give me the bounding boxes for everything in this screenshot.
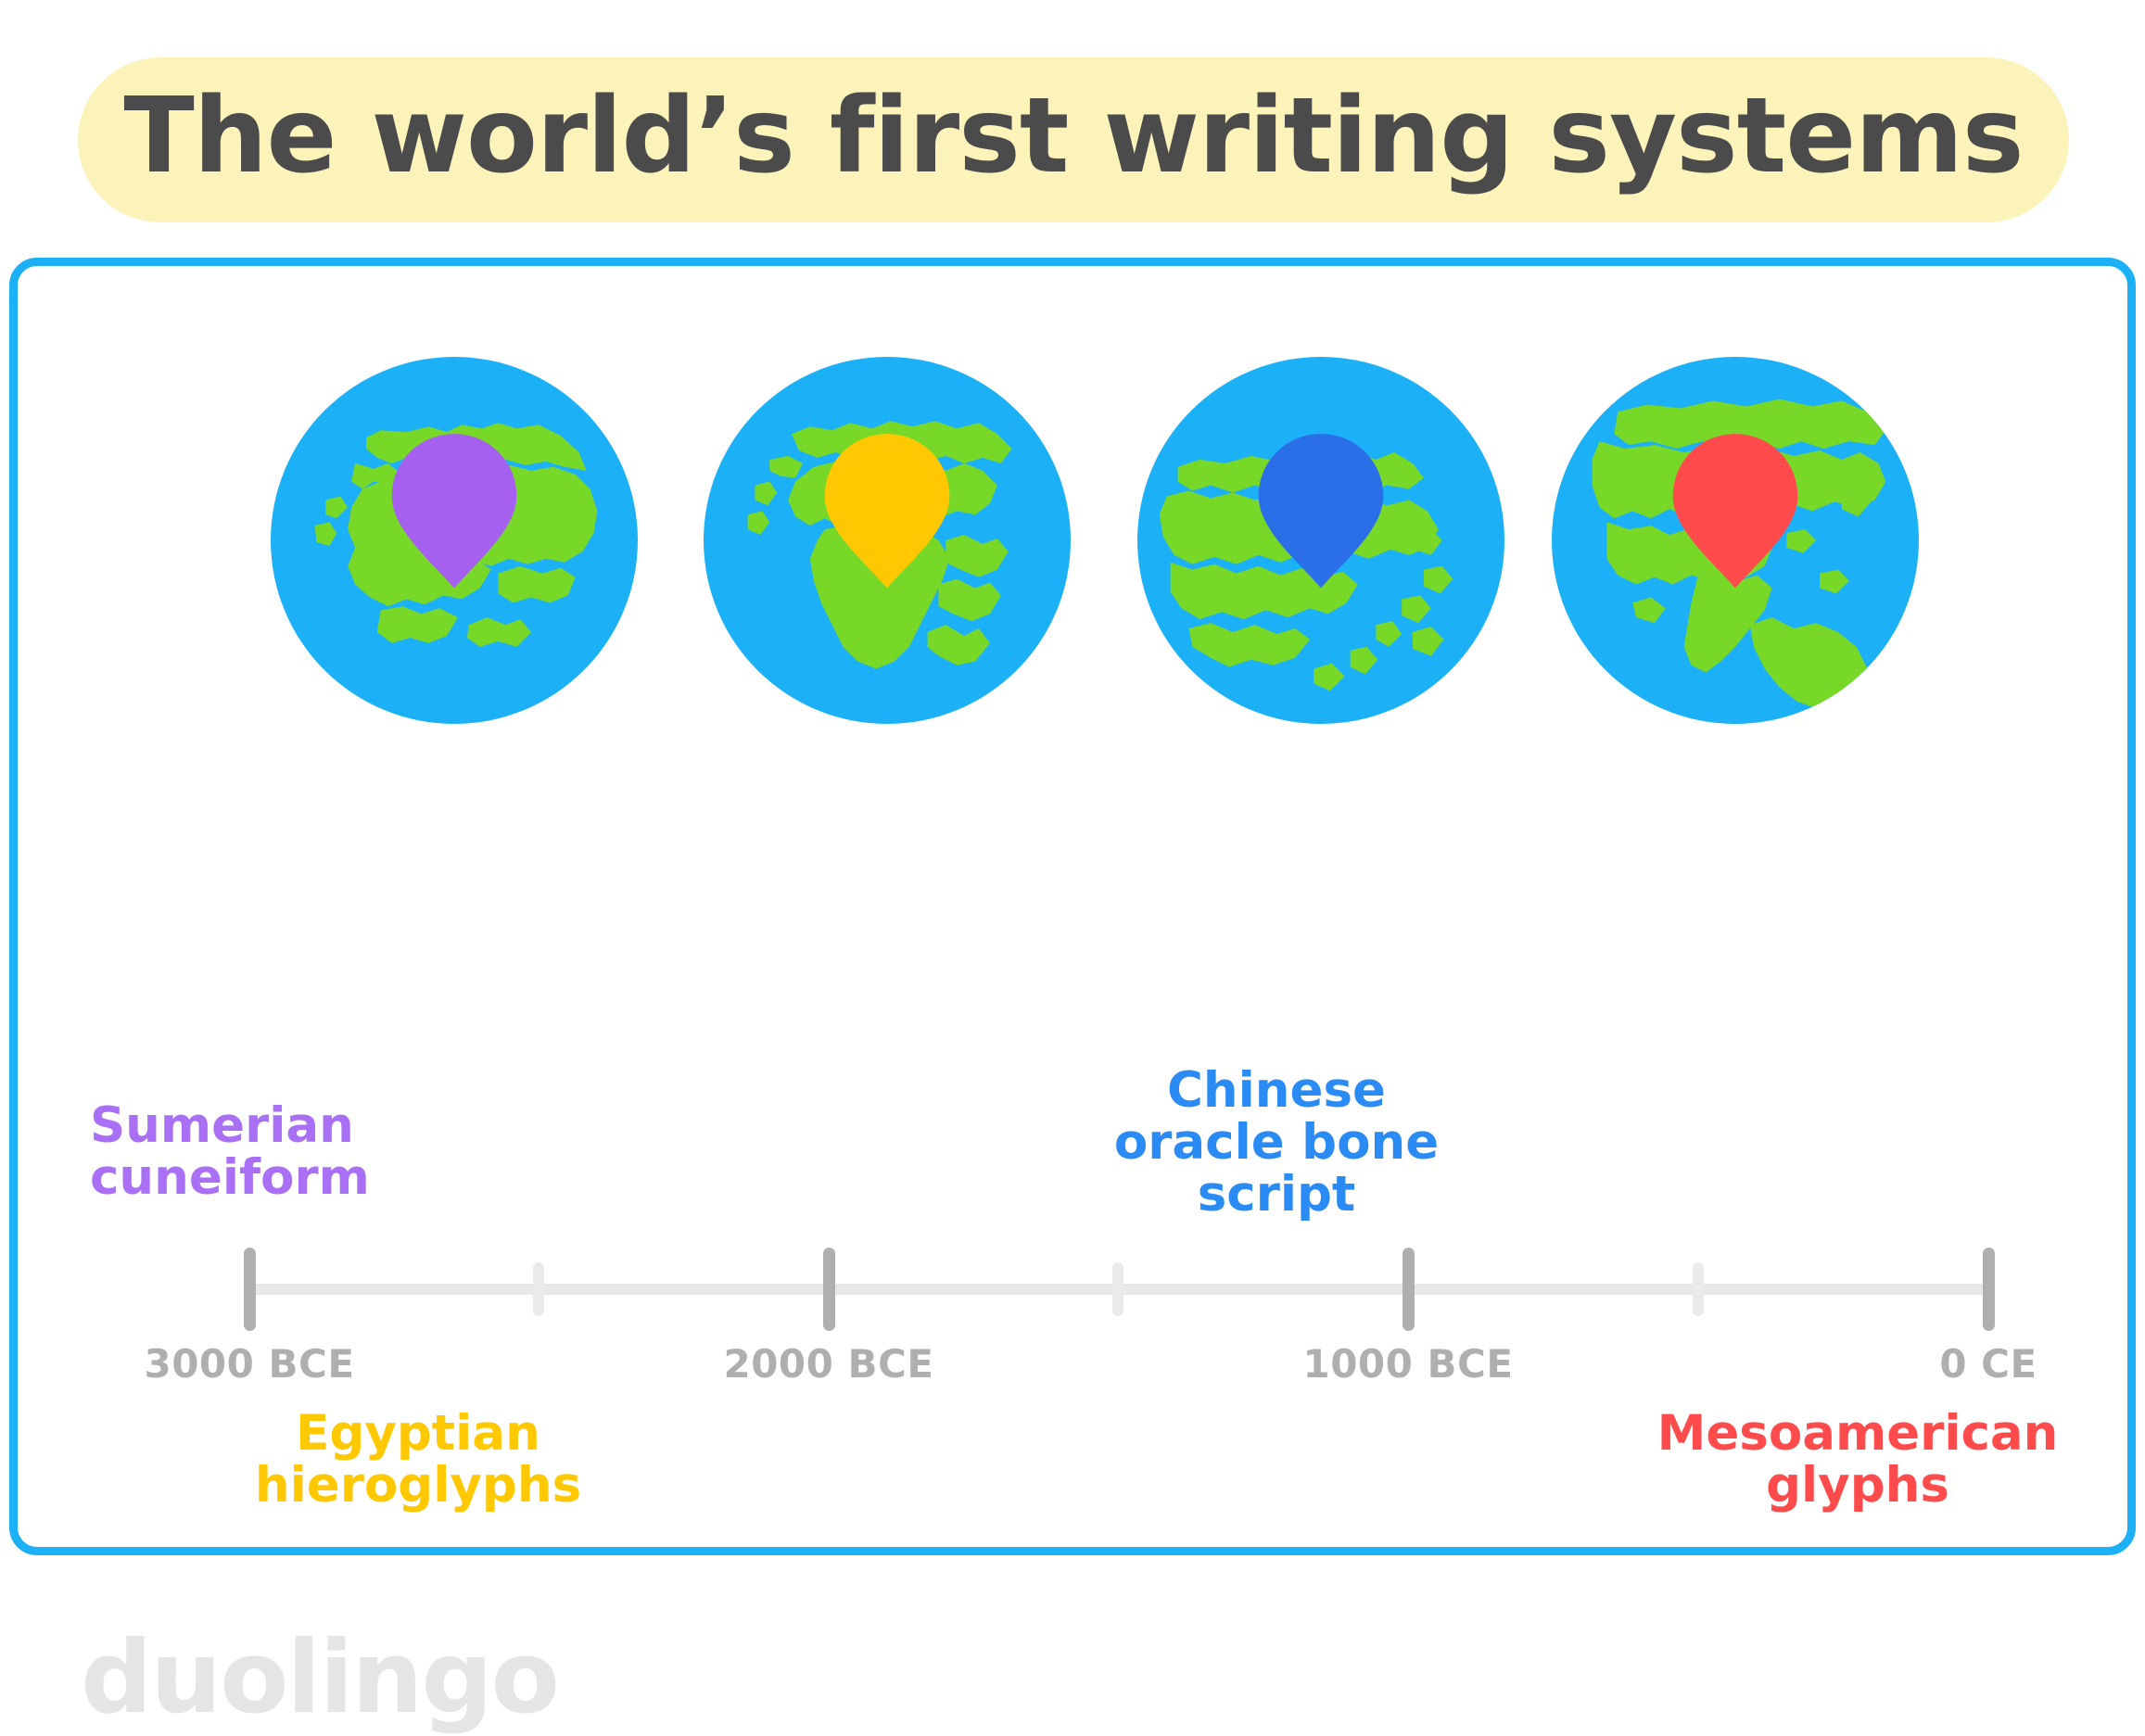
page-title: The world’s first writing systems [123,84,2023,196]
timeline-tick-label-3: 0 CE [1939,1341,2037,1387]
era-label-americas: Mesoamerican glyphs [1657,1408,2059,1512]
title-banner: The world’s first writing systems [78,57,2069,222]
timeline-tick-label-0: 3000 BCE [144,1341,354,1387]
infographic-card: 3000 BCE2000 BCE1000 BCE0 CESumerian cun… [9,258,2136,1555]
timeline-tick-label-2: 1000 BCE [1302,1341,1513,1387]
timeline-tick-major-2 [1402,1248,1415,1331]
timeline-tick-major-3 [1983,1248,1995,1331]
era-label-africa-egypt: Egyptian hieroglyphs [255,1408,581,1512]
timeline-tick-major-1 [823,1248,835,1331]
timeline-tick-minor-2 [1693,1262,1704,1316]
timeline-tick-minor-1 [1112,1262,1123,1316]
era-label-mesopotamia: Sumerian cuneiform [90,1100,370,1204]
duolingo-wordmark: duolingo [81,1628,558,1729]
timeline-tick-label-1: 2000 BCE [723,1341,933,1387]
timeline: 3000 BCE2000 BCE1000 BCE0 CESumerian cun… [18,266,2127,1547]
era-label-east-asia: Chinese oracle bone script [1114,1065,1439,1222]
timeline-tick-major-0 [244,1248,256,1331]
timeline-tick-minor-0 [533,1262,544,1316]
